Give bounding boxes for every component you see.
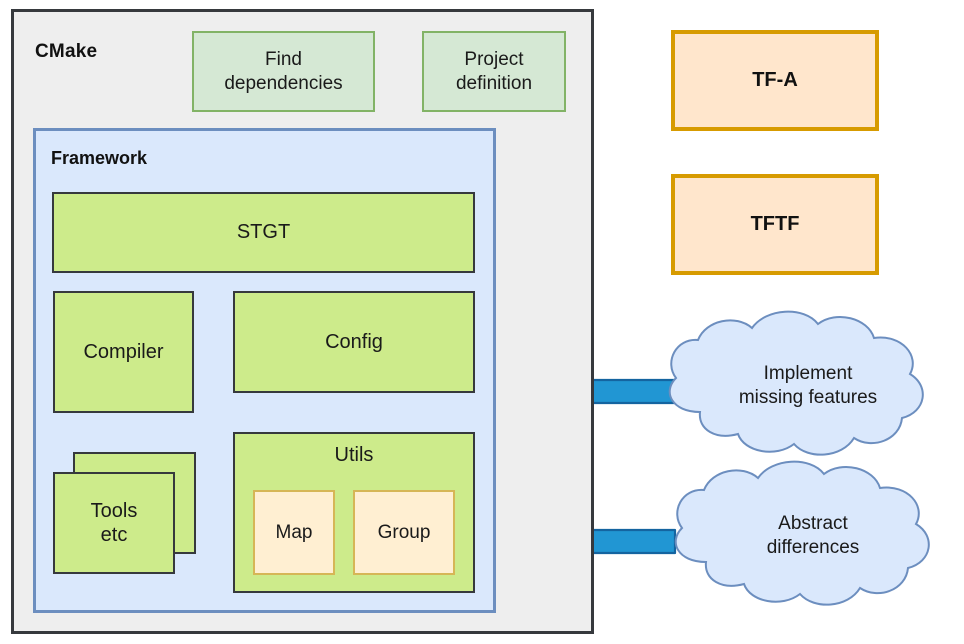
cloud-abstract-differences-label: Abstract differences <box>700 505 926 567</box>
cloud-implement-missing-features-label: Implement missing features <box>690 355 926 417</box>
tools-box[interactable]: Tools etc <box>53 472 175 574</box>
stgt-box[interactable]: STGT <box>52 192 475 273</box>
group-box[interactable]: Group <box>353 490 455 575</box>
config-box[interactable]: Config <box>233 291 475 393</box>
map-box[interactable]: Map <box>253 490 335 575</box>
tfa-box[interactable]: TF-A <box>671 30 879 131</box>
compiler-box[interactable]: Compiler <box>53 291 194 413</box>
diagram-canvas: CMake Find dependencies Project definiti… <box>0 0 964 644</box>
project-definition-box[interactable]: Project definition <box>422 31 566 112</box>
framework-label: Framework <box>51 148 147 169</box>
tftf-box[interactable]: TFTF <box>671 174 879 275</box>
cmake-label: CMake <box>35 41 97 63</box>
find-dependencies-box[interactable]: Find dependencies <box>192 31 375 112</box>
